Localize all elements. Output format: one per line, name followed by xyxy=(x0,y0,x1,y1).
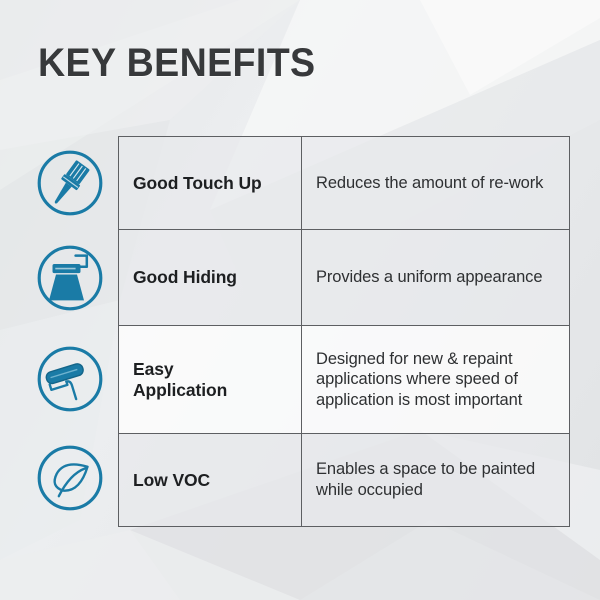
row-label-low-voc: Low VOC xyxy=(119,434,302,527)
desc-line: while occupied xyxy=(316,480,555,501)
desc-line: Reduces the amount of re-work xyxy=(316,173,555,194)
paint-roller-coverage-icon xyxy=(35,243,105,313)
table-row: Good Touch Up Reduces the amount of re-w… xyxy=(119,137,570,230)
desc-line: Designed for new & repaint xyxy=(316,349,555,370)
tilted-paint-roller-icon xyxy=(35,344,105,414)
table-row: Easy Application Designed for new & repa… xyxy=(119,326,570,434)
row-label-good-hiding: Good Hiding xyxy=(119,230,302,326)
icon-cell-easy-application xyxy=(30,326,110,431)
desc-line: applications where speed of xyxy=(316,369,555,390)
label-line: Easy xyxy=(133,359,287,380)
row-desc-low-voc: Enables a space to be painted while occu… xyxy=(302,434,570,527)
row-desc-easy-application: Designed for new & repaint applications … xyxy=(302,326,570,434)
icon-cell-good-hiding xyxy=(30,230,110,326)
desc-line: Provides a uniform appearance xyxy=(316,267,555,288)
paint-brush-icon xyxy=(35,148,105,218)
icon-column xyxy=(30,136,110,524)
desc-line: Enables a space to be painted xyxy=(316,459,555,480)
label-line: Low VOC xyxy=(133,470,287,491)
label-line: Good Touch Up xyxy=(133,173,287,194)
benefits-infographic: KEY BENEFITS xyxy=(0,0,600,600)
table-row: Good Hiding Provides a uniform appearanc… xyxy=(119,230,570,326)
row-desc-good-touch-up: Reduces the amount of re-work xyxy=(302,137,570,230)
row-desc-good-hiding: Provides a uniform appearance xyxy=(302,230,570,326)
label-line: Application xyxy=(133,380,287,401)
desc-line: application is most important xyxy=(316,390,555,411)
icon-cell-good-touch-up xyxy=(30,136,110,230)
table-row: Low VOC Enables a space to be painted wh… xyxy=(119,434,570,527)
icon-cell-low-voc xyxy=(30,431,110,524)
row-label-good-touch-up: Good Touch Up xyxy=(119,137,302,230)
leaf-icon xyxy=(35,443,105,513)
row-label-easy-application: Easy Application xyxy=(119,326,302,434)
page-title: KEY BENEFITS xyxy=(38,42,316,84)
benefits-table: Good Touch Up Reduces the amount of re-w… xyxy=(118,136,570,527)
label-line: Good Hiding xyxy=(133,267,287,288)
